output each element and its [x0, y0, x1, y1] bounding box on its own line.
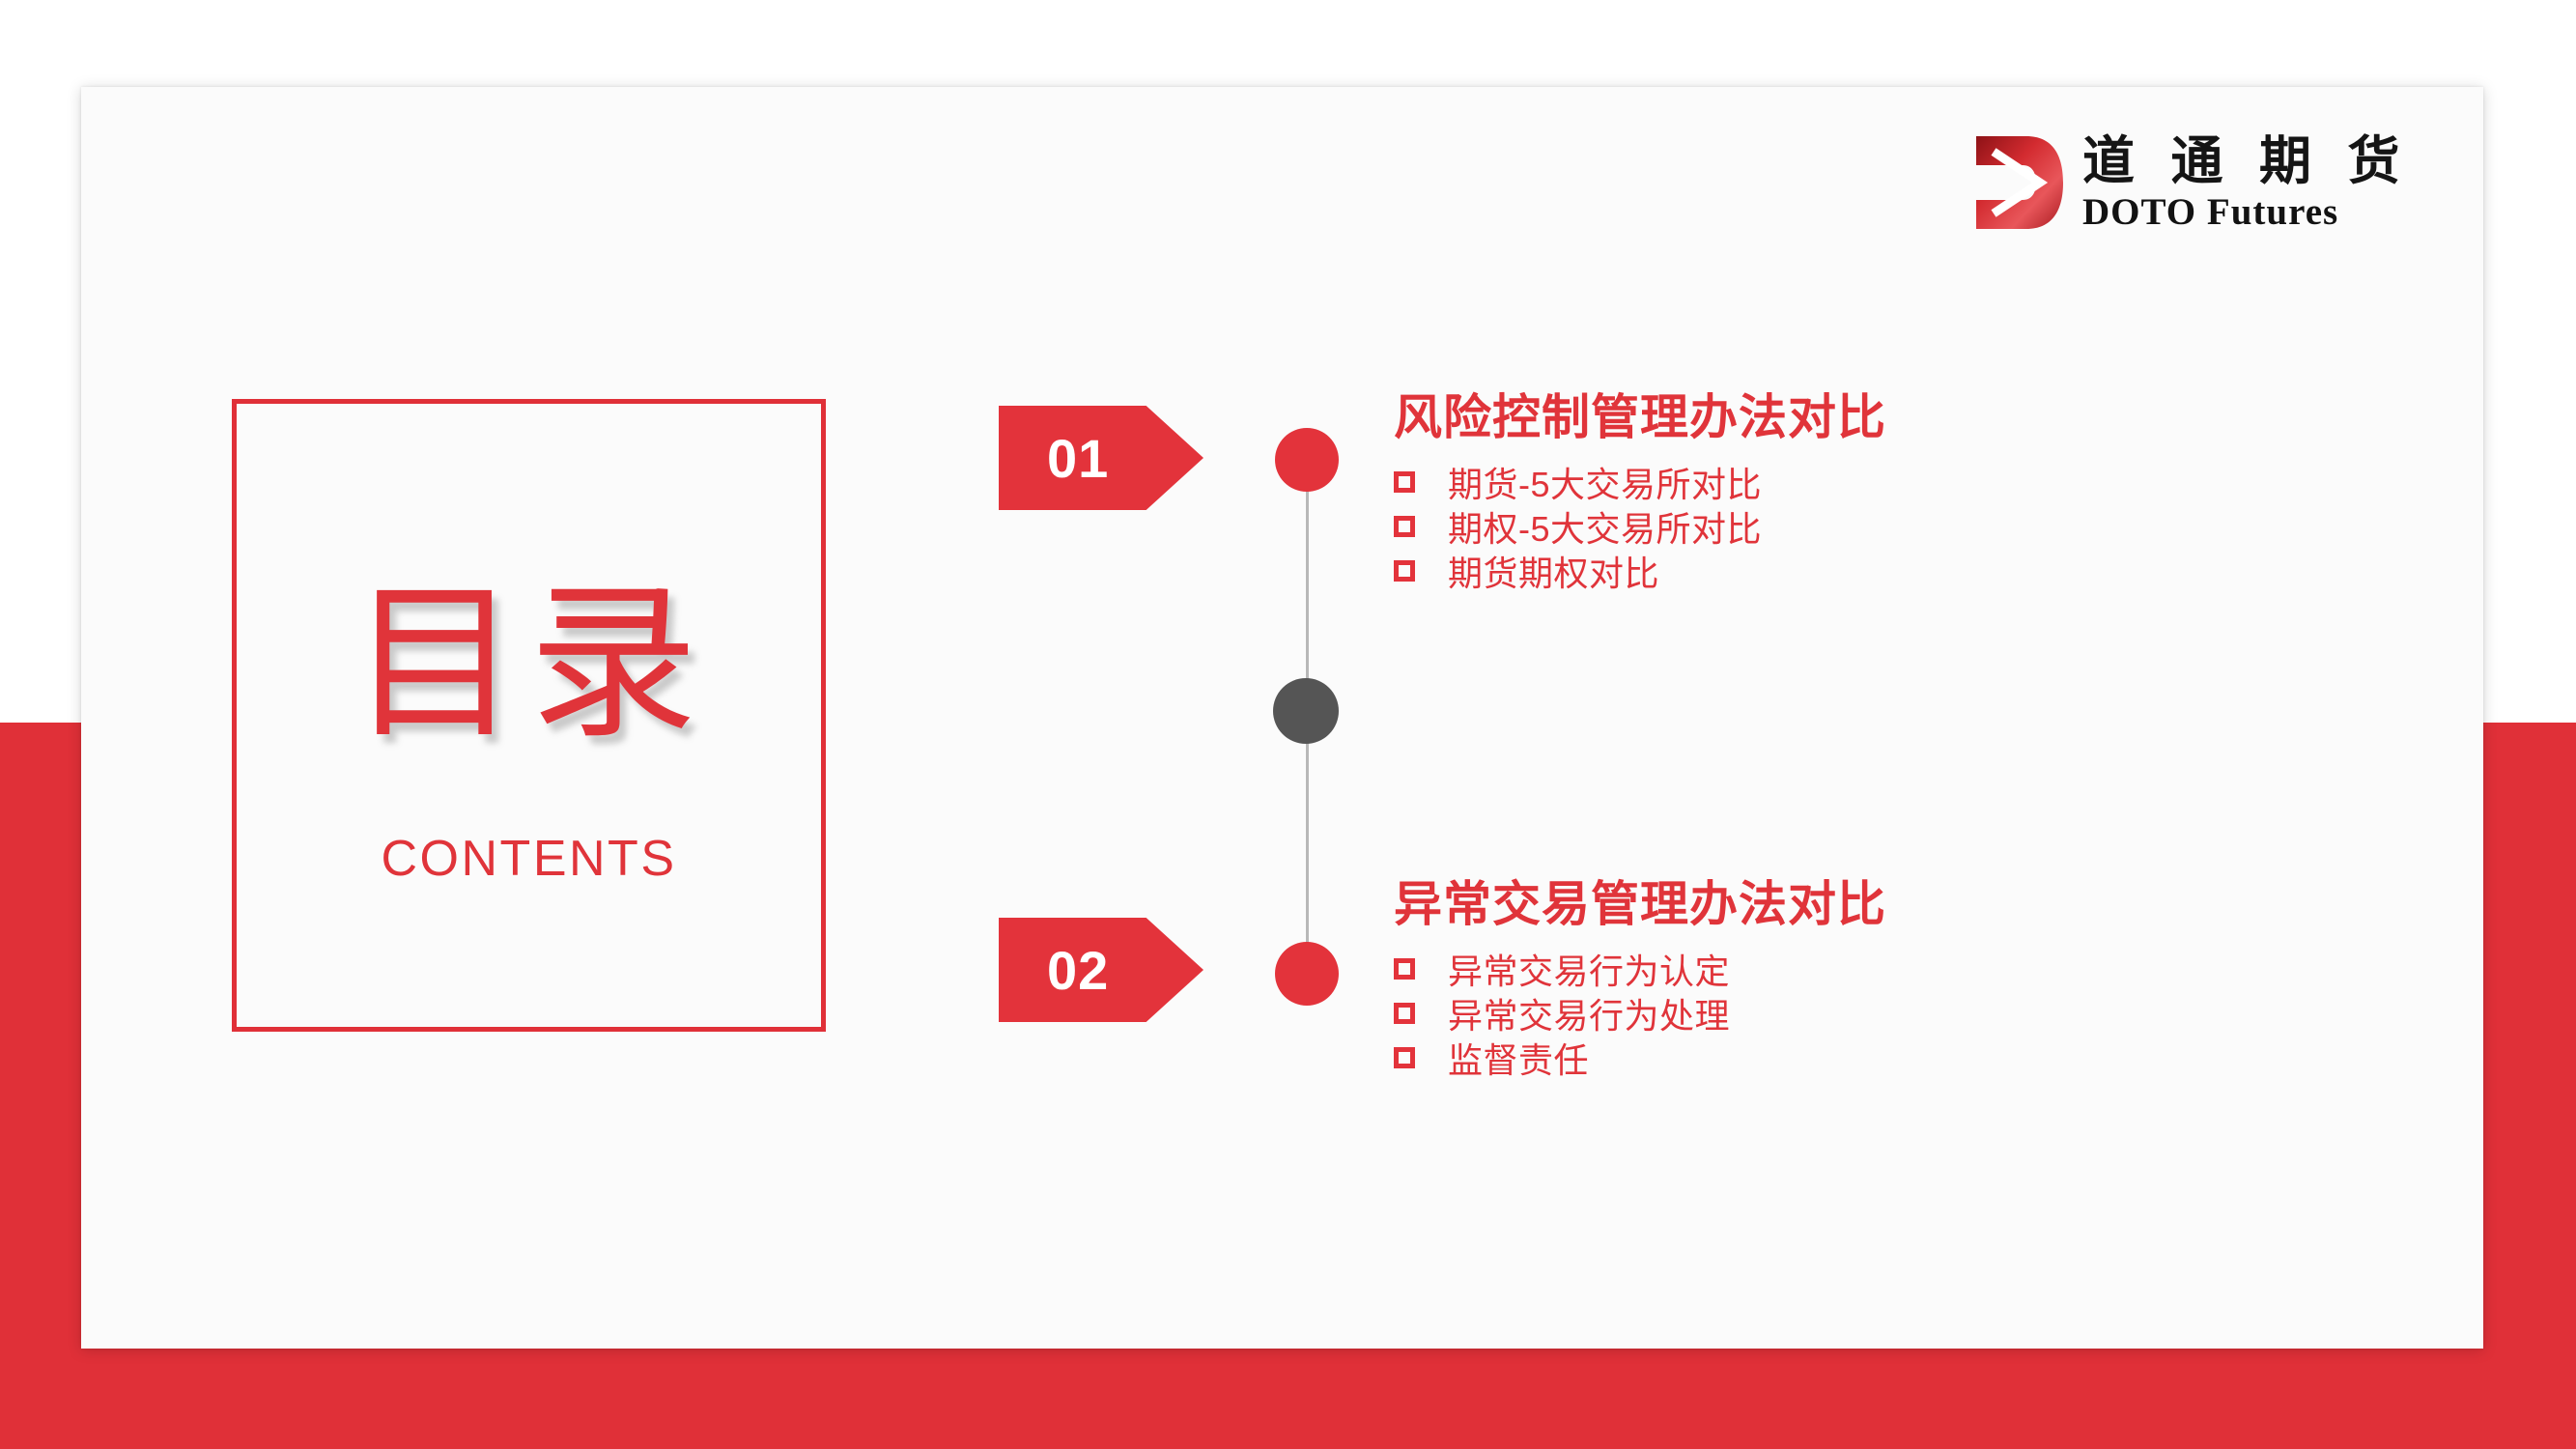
list-item-label: 异常交易行为认定: [1448, 944, 1730, 994]
section-title: 异常交易管理办法对比: [1394, 877, 2340, 933]
slide-stage: 道 通 期 货 DOTO Futures 目录 CONTENTS 01 02 风…: [0, 0, 2576, 1449]
doto-arrow-mark-icon: [1972, 132, 2065, 233]
timeline-node-section-2: [1275, 942, 1339, 1006]
square-bullet-icon: [1394, 471, 1415, 493]
list-item-label: 异常交易行为处理: [1448, 988, 1730, 1038]
logo-english-name: DOTO Futures: [2082, 193, 2412, 231]
square-bullet-icon: [1394, 516, 1415, 537]
logo-chinese-name: 道 通 期 货: [2082, 135, 2412, 187]
list-item-label: 监督责任: [1448, 1033, 1589, 1083]
section-number-label: 02: [1047, 939, 1109, 1002]
list-item-label: 期货-5大交易所对比: [1448, 457, 1762, 507]
logo-wordmark: 道 通 期 货 DOTO Futures: [2082, 135, 2412, 231]
timeline-node-middle: [1273, 678, 1339, 744]
list-item[interactable]: 期权-5大交易所对比: [1394, 504, 2340, 549]
list-item-label: 期货期权对比: [1448, 546, 1659, 596]
list-item[interactable]: 监督责任: [1394, 1036, 2340, 1080]
list-item[interactable]: 异常交易行为处理: [1394, 991, 2340, 1036]
contents-title-en: CONTENTS: [382, 830, 677, 888]
section-block-02: 异常交易管理办法对比 异常交易行为认定 异常交易行为处理 监督责任: [1394, 877, 2340, 1080]
list-item-label: 期权-5大交易所对比: [1448, 501, 1762, 552]
section-title: 风险控制管理办法对比: [1394, 390, 2340, 446]
section-bullet-list: 异常交易行为认定 异常交易行为处理 监督责任: [1394, 947, 2340, 1080]
company-logo: 道 通 期 货 DOTO Futures: [1972, 126, 2436, 240]
square-bullet-icon: [1394, 1003, 1415, 1024]
list-item[interactable]: 异常交易行为认定: [1394, 947, 2340, 991]
contents-box: 目录 CONTENTS: [232, 399, 826, 1032]
square-bullet-icon: [1394, 1047, 1415, 1068]
list-item[interactable]: 期货期权对比: [1394, 549, 2340, 593]
section-bullet-list: 期货-5大交易所对比 期权-5大交易所对比 期货期权对比: [1394, 460, 2340, 593]
contents-title-cn: 目录: [351, 576, 708, 753]
section-number-label: 01: [1047, 427, 1109, 490]
section-block-01: 风险控制管理办法对比 期货-5大交易所对比 期权-5大交易所对比 期货期权对比: [1394, 390, 2340, 593]
timeline-node-section-1: [1275, 428, 1339, 492]
square-bullet-icon: [1394, 958, 1415, 980]
list-item[interactable]: 期货-5大交易所对比: [1394, 460, 2340, 504]
square-bullet-icon: [1394, 560, 1415, 582]
